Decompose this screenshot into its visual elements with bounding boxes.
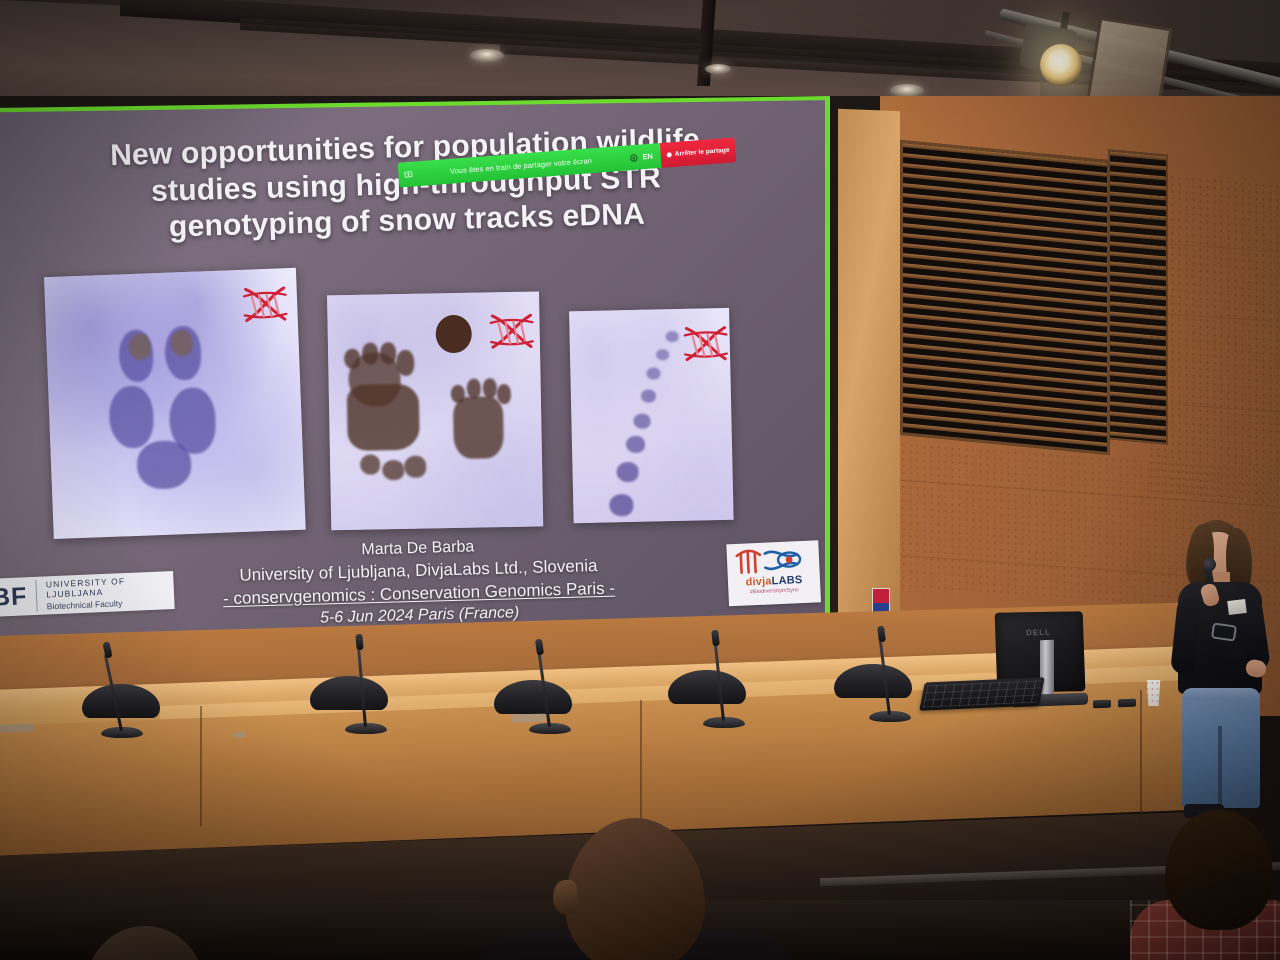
divjalabs-logo: divjaLABS #BiodiversityInSync <box>726 540 821 606</box>
keyboard[interactable] <box>919 677 1045 711</box>
keyboard-keys <box>923 680 1041 707</box>
stop-sharing-label: Arrêter le partage <box>674 147 729 158</box>
mic-capsule <box>877 626 886 643</box>
photo-canid-paw-print-in-snow <box>44 268 306 539</box>
mic-shade <box>834 664 912 698</box>
stop-record-icon <box>667 152 672 157</box>
mic-shade <box>310 676 388 710</box>
conference-microphone <box>76 638 166 738</box>
desk-seam <box>1140 690 1142 820</box>
screen-share-icon <box>404 170 413 179</box>
mic-shade <box>494 680 572 714</box>
perforated-acoustic-panel <box>1148 172 1280 504</box>
monitor-brand-label: DELL <box>1026 628 1051 638</box>
conference-microphone <box>672 628 762 728</box>
speaker-waistband <box>1182 688 1260 700</box>
recessed-light-icon <box>470 49 504 62</box>
spotlight-lamp-icon <box>1040 44 1082 86</box>
slide-photo-row <box>37 248 774 540</box>
desk-small-device <box>1093 700 1111 709</box>
hanging-glasses-icon <box>1211 622 1237 641</box>
divjalabs-name-part1: divja <box>745 575 772 588</box>
desk-cable-plate <box>0 723 34 732</box>
divjalabs-name-part2: LABS <box>771 574 802 587</box>
speaker-person <box>1160 520 1280 820</box>
audience-member-head <box>1165 810 1273 930</box>
desk-small-device <box>1118 699 1136 708</box>
dna-helix-icon <box>238 282 292 330</box>
speaker-name-badge <box>1227 599 1247 615</box>
bf-logo-mark: BF <box>0 581 37 612</box>
divjalabs-mark-icon <box>726 543 819 577</box>
mic-shade <box>668 670 746 704</box>
dna-helix-icon <box>679 322 732 369</box>
photo-bear-tracks-in-snow <box>327 291 543 530</box>
dna-helix-icon <box>485 310 538 357</box>
speaker-leg-seam <box>1218 726 1222 810</box>
photo-animal-track-trail-in-snow <box>569 308 734 523</box>
louver-slat <box>1110 151 1166 160</box>
louver-slat <box>1110 161 1166 170</box>
mic-capsule <box>355 634 363 651</box>
desk-cable-plate <box>512 713 546 722</box>
mic-capsule <box>535 639 544 656</box>
lecture-hall-scene: New opportunities for population wildlif… <box>0 0 1280 960</box>
wall-louver-vent <box>900 140 1110 455</box>
desk-seam <box>200 706 202 826</box>
mic-capsule <box>711 630 720 647</box>
conference-microphone <box>318 632 408 734</box>
university-name: UNIVERSITY OF LJUBLJANA <box>46 574 174 599</box>
wall-column <box>838 109 900 651</box>
pause-circle-icon[interactable] <box>629 153 638 162</box>
desk-seam <box>640 700 642 820</box>
mic-shade <box>82 684 160 718</box>
recessed-light-icon <box>705 64 731 74</box>
share-banner-language[interactable]: EN <box>642 151 655 161</box>
audience-member-ear <box>553 880 577 914</box>
